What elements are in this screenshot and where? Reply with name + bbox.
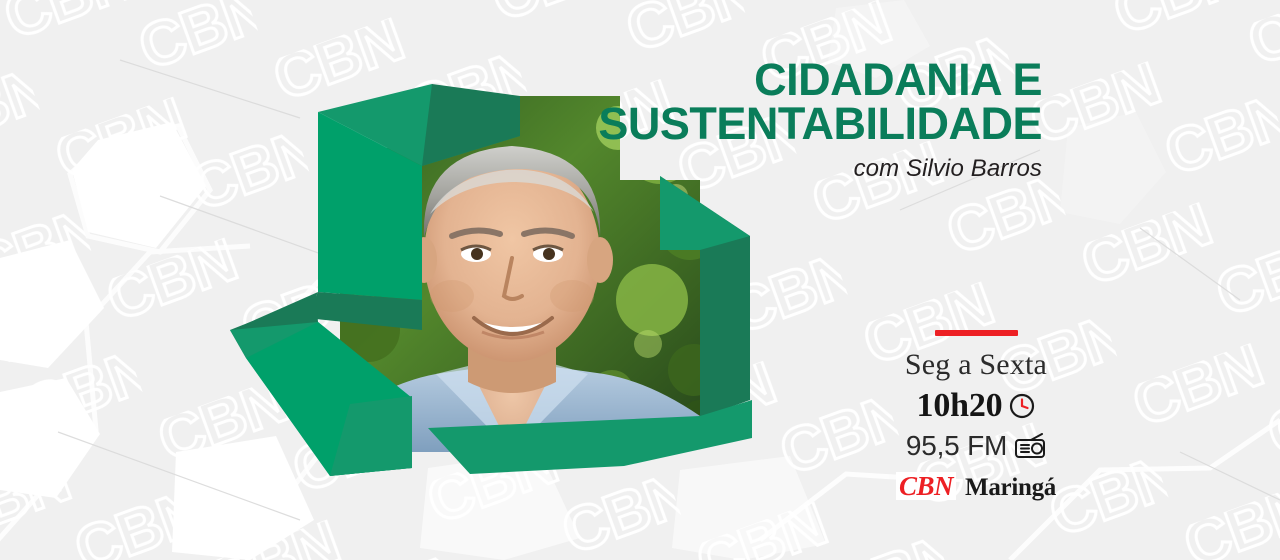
- show-host-subtitle: com Silvio Barros: [402, 155, 1042, 183]
- show-title-block: CIDADANIA E SUSTENTABILIDADE com Silvio …: [402, 58, 1042, 183]
- red-divider-rule: [935, 330, 1018, 336]
- show-title-line-2: SUSTENTABILIDADE: [402, 102, 1042, 146]
- radio-icon: [1014, 433, 1046, 459]
- broadcast-info-block: Seg a Sexta 10h20 95,5 FM CBN Maringá: [880, 330, 1072, 501]
- radio-show-banner: CBN CBN: [0, 0, 1280, 560]
- broadcast-time: 10h20: [917, 389, 1003, 423]
- broadcast-frequency-row: 95,5 FM: [880, 432, 1072, 460]
- clock-icon: [1009, 393, 1035, 419]
- station-brand-cbn: CBN: [896, 472, 956, 500]
- station-logo: CBN Maringá: [880, 472, 1072, 501]
- broadcast-time-row: 10h20: [880, 389, 1072, 423]
- broadcast-frequency: 95,5 FM: [906, 432, 1007, 460]
- broadcast-days: Seg a Sexta: [880, 350, 1072, 380]
- station-city-maringa: Maringá: [965, 475, 1056, 501]
- show-title-line-1: CIDADANIA E: [402, 58, 1042, 102]
